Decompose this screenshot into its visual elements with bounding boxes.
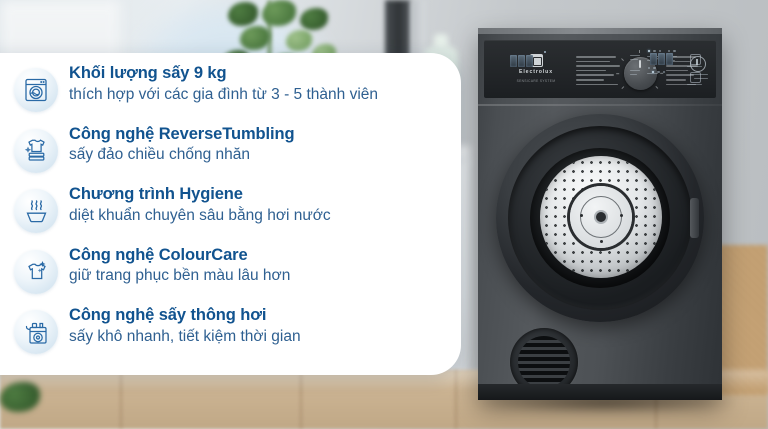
electrolux-dryer: Electrolux SENSICARE SYSTEM <box>478 28 722 400</box>
feature-title: Khối lượng sấy 9 kg <box>69 63 461 84</box>
display-readout-wrap <box>650 52 684 68</box>
door-hinge <box>690 198 699 238</box>
digital-display <box>510 54 540 67</box>
feature-subtitle: giữ trang phục bền màu lâu hơn <box>69 266 461 286</box>
dryer-door[interactable] <box>496 114 704 322</box>
feature-item-colourcare: Công nghệ ColourCare giữ trang phục bền … <box>0 245 461 306</box>
feature-list: Khối lượng sấy 9 kg thích hợp với các gi… <box>0 53 461 375</box>
feature-item-reverse-tumbling: Công nghệ ReverseTumbling sấy đảo chiều … <box>0 124 461 185</box>
start-pause-button[interactable] <box>690 56 706 72</box>
steam-basin-icon <box>14 189 58 233</box>
brand-tagline: SENSICARE SYSTEM <box>500 79 572 83</box>
appliance-base <box>478 384 722 400</box>
feature-title: Công nghệ sấy thông hơi <box>69 305 461 326</box>
brand-name: Electrolux <box>500 69 572 75</box>
feature-title: Công nghệ ReverseTumbling <box>69 124 461 145</box>
folded-shirt-icon <box>14 129 58 173</box>
feature-subtitle: diệt khuẩn chuyên sâu bằng hơi nước <box>69 206 461 226</box>
feature-subtitle: thích hợp với các gia đình từ 3 - 5 thàn… <box>69 85 461 105</box>
feature-item-hygiene: Chương trình Hygiene diệt khuẩn chuyên s… <box>0 184 461 245</box>
feature-subtitle: sấy đảo chiều chống nhăn <box>69 145 461 165</box>
feature-title: Công nghệ ColourCare <box>69 245 461 266</box>
drum-interior <box>540 156 662 278</box>
sparkling-shirt-icon <box>14 250 58 294</box>
feature-title: Chương trình Hygiene <box>69 184 461 205</box>
infographic-scene: Electrolux SENSICARE SYSTEM <box>0 0 768 429</box>
dryer-machine-icon <box>14 68 58 112</box>
vented-dryer-icon <box>14 310 58 354</box>
feature-item-vented-drying: Công nghệ sấy thông hơi sấy khô nhanh, t… <box>0 305 461 366</box>
feature-item-capacity: Khối lượng sấy 9 kg thích hợp với các gi… <box>0 63 461 124</box>
feature-card: Khối lượng sấy 9 kg thích hợp với các gi… <box>0 53 461 375</box>
control-panel[interactable]: Electrolux SENSICARE SYSTEM <box>484 40 716 98</box>
feature-subtitle: sấy khô nhanh, tiết kiệm thời gian <box>69 327 461 347</box>
